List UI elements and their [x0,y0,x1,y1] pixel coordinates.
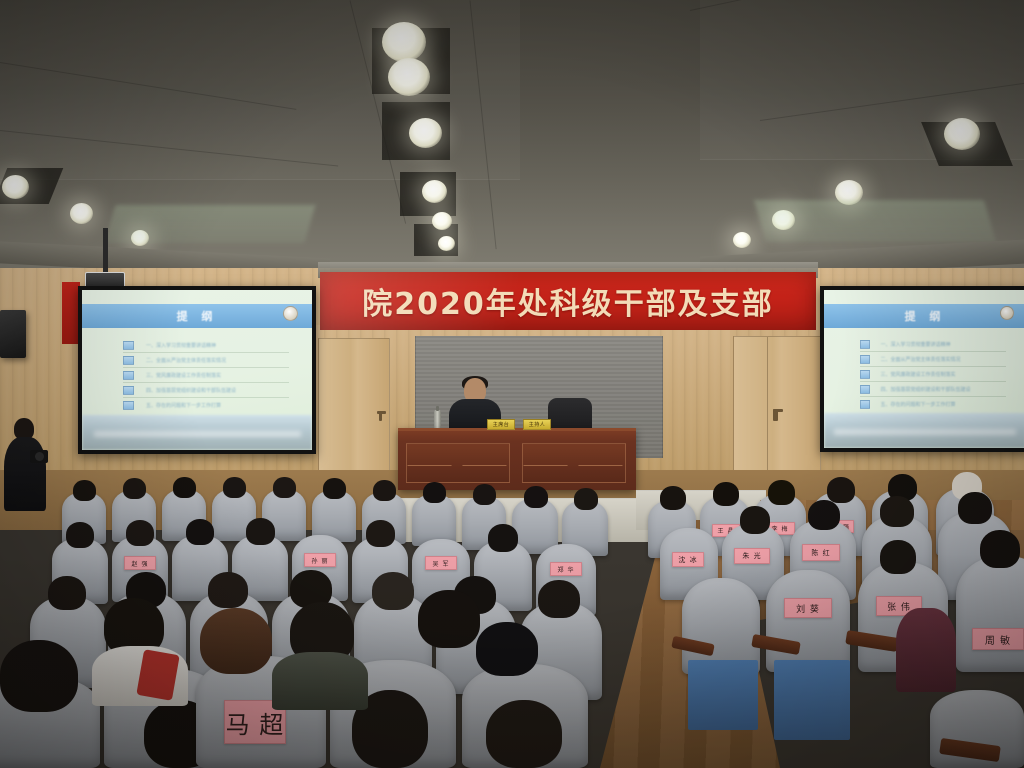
left-projection-screen: 提 纲 一、深入学习贯彻重要讲话精神 二、全面从严治党主体责任落实情况 三、党风… [78,286,316,454]
ceiling-downlight [422,180,447,203]
tag-text: 朱 光 [742,551,761,561]
ceiling-downlight [70,203,93,224]
attendee-head [980,530,1020,568]
tag-text: 赵 强 [132,559,149,568]
attendee-head [808,500,840,530]
seat-name-tag: 郑 华 [550,562,582,576]
ceiling-downlight [944,118,980,150]
attendee-head [66,522,94,548]
slide-list-item: 五、存在的问题和下一步工作打算 [146,402,289,409]
right-projection-screen: 提 纲 一、深入学习贯彻重要讲话精神 二、全面从严治党主体责任落实情况 三、党风… [820,286,1024,452]
attendee-head [574,488,598,510]
slide-title: 提 纲 [177,308,218,324]
conference-hall-photo: 院2020年处科级干部及支部 提 纲 一、深入学习贯彻重要讲话精神 二、全面从严… [0,0,1024,768]
attendee-head [958,492,992,524]
attendee-head [372,572,414,610]
attendee-head [173,477,196,498]
attendee-head [0,640,78,712]
slide-list-item: 一、深入学习贯彻重要讲话精神 [146,342,289,349]
stage-chair [548,398,592,432]
attendee-head [223,477,246,498]
seat-name-tag: 赵 强 [124,556,156,570]
rostrum-nameplate: 主持人 [523,419,551,430]
wooden-rostrum [398,428,636,490]
slide-title: 提 纲 [905,308,946,324]
seat[interactable] [766,570,850,672]
attendee-head [486,700,562,768]
ceiling-downlight [382,22,426,62]
ceiling-downlight [409,118,442,148]
attendee-head [880,540,916,574]
attendee-head-brown-hair [200,608,272,674]
tag-text: 吴 军 [433,559,450,568]
slide-list-item: 二、全面从严治党主体责任落实情况 [146,357,289,364]
slide-footer-image [824,413,1024,448]
rostrum-nameplate: 主席台 [487,419,515,430]
attendee-head-cap [476,622,538,676]
attendee-head [366,520,395,547]
stage-left-door[interactable] [318,338,390,478]
camera-lens-icon [35,452,44,461]
attendee-head [768,480,795,505]
attendee-head [473,484,496,505]
slide-list-item: 一、深入学习贯彻重要讲话精神 [881,341,1006,348]
tag-text: 陈 红 [811,548,830,558]
attendee-head [740,506,770,534]
seat-name-tag: 沈 冰 [672,552,704,567]
attendee-head [246,518,275,545]
attendee-head [660,486,686,510]
ceiling-downlight [388,58,430,96]
attendee-head [123,478,146,499]
slide-list-item: 五、存在的问题和下一步工作打算 [881,401,1006,408]
attendee-body [896,608,956,692]
attendee-head [48,576,86,610]
seat-name-tag: 刘 葵 [784,598,832,618]
tag-text: 郑 华 [558,565,575,574]
tag-text: 孙 丽 [312,556,329,565]
attendee-head [524,486,548,508]
slide-list-item: 二、全面从严治党主体责任落实情况 [881,356,1006,363]
seat[interactable] [956,556,1024,672]
attendee-head [880,496,914,527]
ceiling-downlight [733,232,751,248]
attendee-head [208,572,248,608]
attendee-head [488,524,518,552]
attendee-head [323,478,346,499]
attendee-head [273,477,296,498]
wall-mounted-loudspeaker [0,310,26,358]
seat-name-tag: 周 敏 [972,628,1024,650]
tag-text: 周 敏 [985,632,1011,647]
attendee-head [418,590,480,648]
slide-bullet-list: 一、深入学习贯彻重要讲话精神 二、全面从严治党主体责任落实情况 三、党风廉政建设… [860,337,1005,412]
slide-logo-icon [1000,306,1014,320]
attendee-head [423,482,446,503]
slide-list-item: 四、加强基层党组织建设和干部队伍建设 [146,387,289,394]
event-banner: 院2020年处科级干部及支部 [320,272,816,330]
tag-text: 刘 葵 [796,602,820,615]
slide-bullet-list: 一、深入学习贯彻重要讲话精神 二、全面从严治党主体责任落实情况 三、党风廉政建设… [123,338,289,413]
ceiling-downlight [2,175,29,199]
attendee-head [126,520,154,546]
tag-text: 沈 冰 [678,555,697,565]
slide-header-bar: 提 纲 [824,304,1024,328]
nameplate-text: 主持人 [529,421,546,428]
seat-name-tag: 朱 光 [734,548,770,564]
ceiling [0,0,1024,300]
seat-name-tag: 吴 军 [425,556,457,570]
seat-base-panel [688,660,758,730]
seat-name-tag: 陈 红 [802,544,840,561]
attendee-head [373,480,396,501]
attendee-head [713,482,739,506]
photographer-body [4,437,46,511]
stage-right-door[interactable] [733,336,821,482]
attendee-body [272,652,368,710]
slide-list-item: 四、加强基层党组织建设和干部队伍建设 [881,386,1006,393]
nameplate-text: 主席台 [493,421,510,428]
slide-footer-image [82,415,312,450]
slide-list-item: 三、党风廉政建设工作责任制落实 [146,372,289,379]
ceiling-downlight [432,212,452,230]
seat-base-panel [774,660,850,740]
standing-photographer [4,418,46,510]
attendee-head [73,480,96,501]
projector-mount-pole [103,228,108,274]
slide-header-bar: 提 纲 [82,304,312,328]
attendee-head [186,519,214,545]
attendee-head [827,477,855,503]
slide-list-item: 三、党风廉政建设工作责任制落实 [881,371,1006,378]
tag-text: 张 伟 [887,600,911,613]
seat-name-tag: 孙 丽 [304,553,336,567]
attendee-head [538,580,580,618]
banner-text: 院2020年处科级干部及支部 [362,279,774,323]
ceiling-downlight [438,236,455,251]
